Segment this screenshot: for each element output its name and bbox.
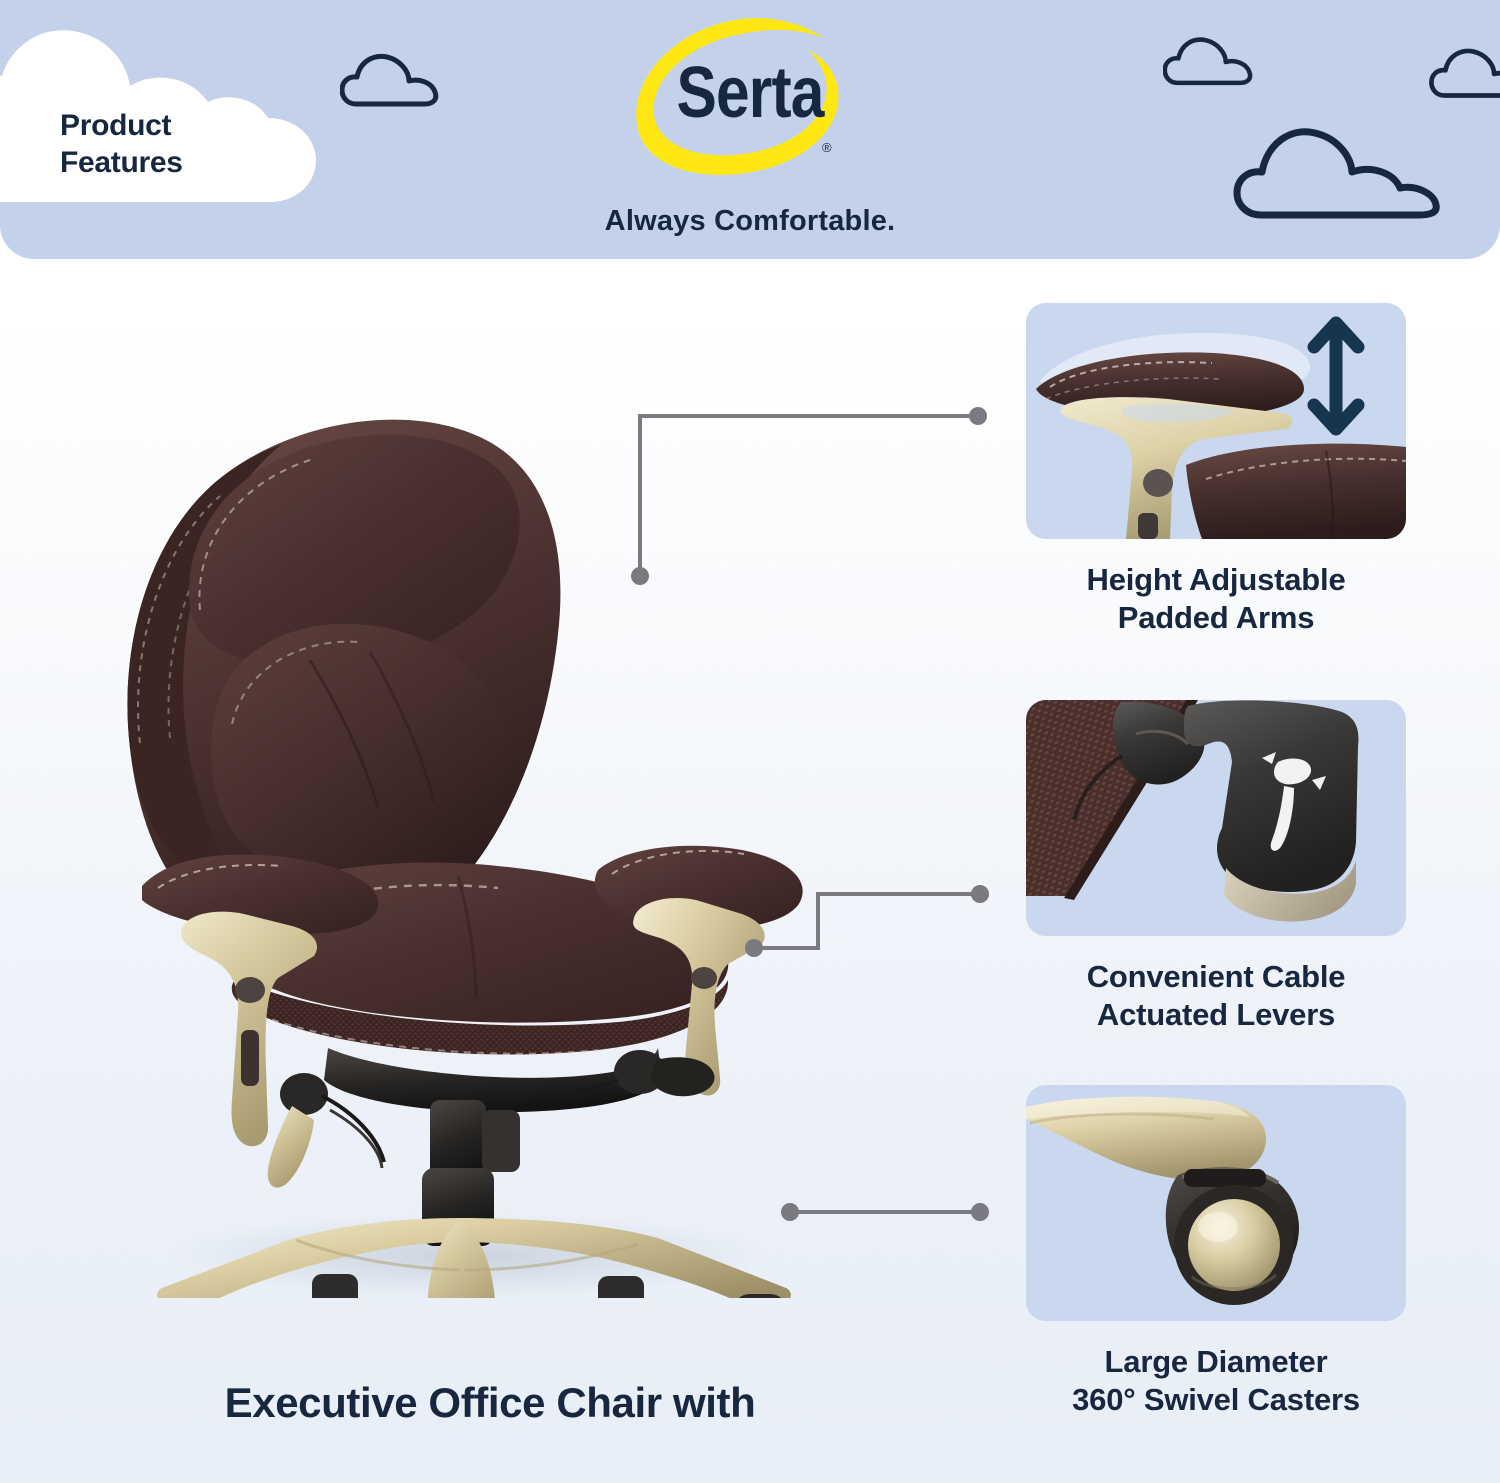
leader-line-to-feature-3: [782, 1198, 992, 1228]
leader-line-to-feature-1: [630, 410, 990, 590]
feature-card-height-adjustable-padded-arms: Height Adjustable Padded Arms: [1006, 303, 1426, 637]
feature-card-convenient-cable-actuated-levers: Convenient Cable Actuated Levers: [1006, 700, 1426, 1034]
seat-background: [1186, 444, 1406, 539]
product-title: Executive Office Chair with Back-In-Moti…: [40, 1322, 940, 1483]
chair-lever-left-knob: [280, 1073, 328, 1115]
brand-logo: Serta ®: [0, 0, 1500, 184]
armrest-adjust-button: [1143, 469, 1173, 497]
feature-card-large-diameter-swivel-casters: Large Diameter 360° Swivel Casters: [1006, 1085, 1426, 1419]
padded-armrest-closeup-thumb: [1026, 303, 1406, 539]
product-title-line-1: Executive Office Chair with: [40, 1376, 940, 1430]
armrest-height-button: [235, 977, 265, 1003]
chair-caster-back-right: [598, 1276, 644, 1298]
header-band: Product Features Serta ® Always Co: [0, 0, 1500, 259]
cable-actuated-lever-closeup-thumb: [1026, 700, 1406, 936]
feature-caption-1: Height Adjustable Padded Arms: [1006, 561, 1426, 637]
swivel-caster-closeup-thumb: [1026, 1085, 1406, 1321]
brand-wordmark: Serta: [676, 52, 823, 134]
leader-line-to-feature-2: [744, 880, 994, 970]
feature-caption-3: Large Diameter 360° Swivel Casters: [1006, 1343, 1426, 1419]
chair-caster-back-left: [312, 1274, 358, 1298]
feature-caption-2: Convenient Cable Actuated Levers: [1006, 958, 1426, 1034]
caster-wheel-hub: [1188, 1199, 1280, 1291]
chair-tilt-mechanism: [324, 1048, 662, 1112]
registered-trademark-icon: ®: [822, 140, 832, 155]
chair-lever-left-paddle: [268, 1106, 314, 1188]
brand-tagline: Always Comfortable.: [0, 205, 1500, 238]
